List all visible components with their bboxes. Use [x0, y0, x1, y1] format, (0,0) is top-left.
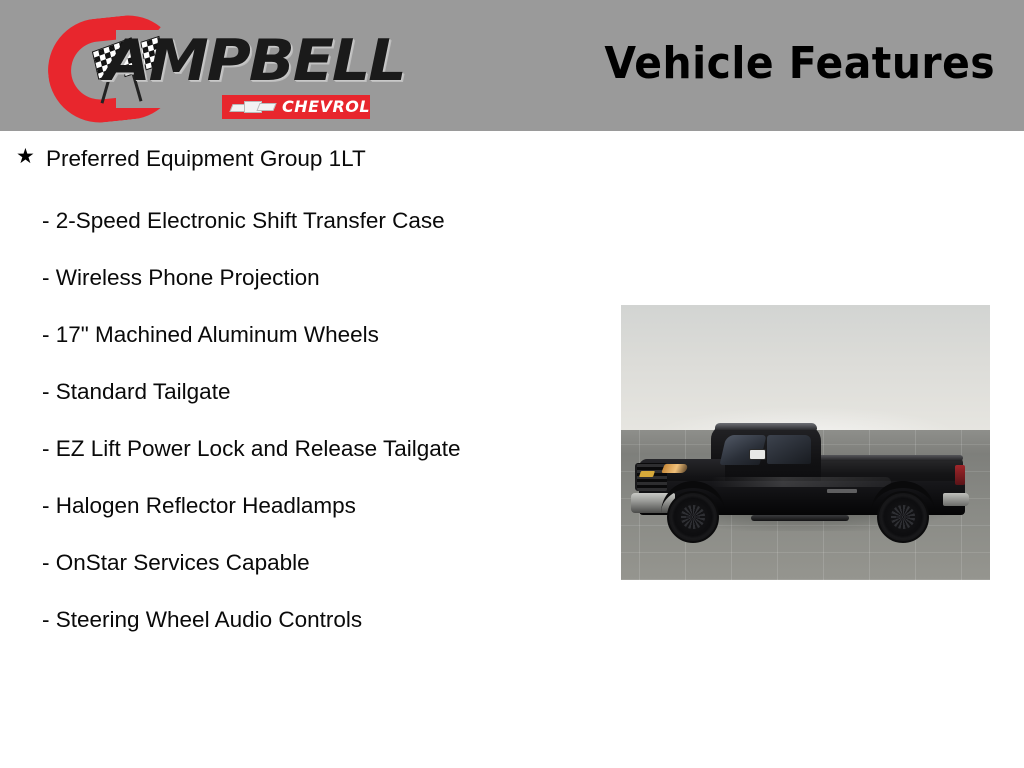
feature-item-label: - Steering Wheel Audio Controls	[42, 607, 362, 632]
truck-taillight	[955, 465, 965, 485]
feature-item-label: - EZ Lift Power Lock and Release Tailgat…	[42, 436, 461, 461]
feature-list: ★ Preferred Equipment Group 1LT - 2-Spee…	[0, 143, 560, 661]
list-item: - Wireless Phone Projection	[0, 262, 560, 293]
slide-page: AMPBELL CHEVROLET Vehicle Features ★ Pre…	[0, 0, 1024, 768]
list-item: - 17" Machined Aluminum Wheels	[0, 319, 560, 350]
truck-headlamp	[661, 464, 689, 473]
truck-rear-wheel	[877, 491, 929, 543]
truck-running-board	[751, 515, 849, 521]
truck-bowtie-emblem-icon	[639, 471, 655, 477]
vehicle-photo	[621, 305, 990, 580]
photo-backdrop	[621, 305, 990, 430]
star-bullet-icon: ★	[16, 146, 35, 167]
list-item: - Standard Tailgate	[0, 376, 560, 407]
header-band: AMPBELL CHEVROLET Vehicle Features	[0, 0, 1024, 131]
list-item: - 2-Speed Electronic Shift Transfer Case	[0, 205, 560, 236]
truck-body-highlight	[711, 477, 891, 487]
truck-rear-bumper	[943, 493, 969, 506]
feature-item-label: - 2-Speed Electronic Shift Transfer Case	[42, 208, 445, 233]
truck-rear-window	[767, 435, 811, 464]
chevrolet-wordmark: CHEVROLET	[282, 98, 370, 116]
truck-side-badge	[827, 489, 857, 493]
feature-heading-row: ★ Preferred Equipment Group 1LT	[0, 143, 560, 174]
feature-item-label: - Halogen Reflector Headlamps	[42, 493, 356, 518]
dealer-logo: AMPBELL CHEVROLET	[42, 12, 387, 124]
pickup-truck-illustration	[631, 419, 979, 557]
truck-roof	[715, 423, 817, 430]
feature-item-label: - 17" Machined Aluminum Wheels	[42, 322, 379, 347]
feature-item-label: - Standard Tailgate	[42, 379, 230, 404]
truck-side-mirror	[749, 449, 766, 460]
page-title: Vehicle Features	[604, 38, 995, 90]
list-item: - EZ Lift Power Lock and Release Tailgat…	[0, 433, 560, 464]
bowtie-right-wing	[256, 103, 276, 111]
list-item: - OnStar Services Capable	[0, 547, 560, 578]
chevrolet-bar: CHEVROLET	[222, 95, 370, 119]
list-item: - Halogen Reflector Headlamps	[0, 490, 560, 521]
feature-heading-label: Preferred Equipment Group 1LT	[46, 146, 366, 171]
chevrolet-bowtie-icon	[231, 101, 275, 114]
list-item: - Steering Wheel Audio Controls	[0, 604, 560, 635]
truck-front-wheel	[667, 491, 719, 543]
feature-item-label: - Wireless Phone Projection	[42, 265, 320, 290]
feature-item-label: - OnStar Services Capable	[42, 550, 310, 575]
logo-brand-word: AMPBELL	[104, 32, 405, 90]
